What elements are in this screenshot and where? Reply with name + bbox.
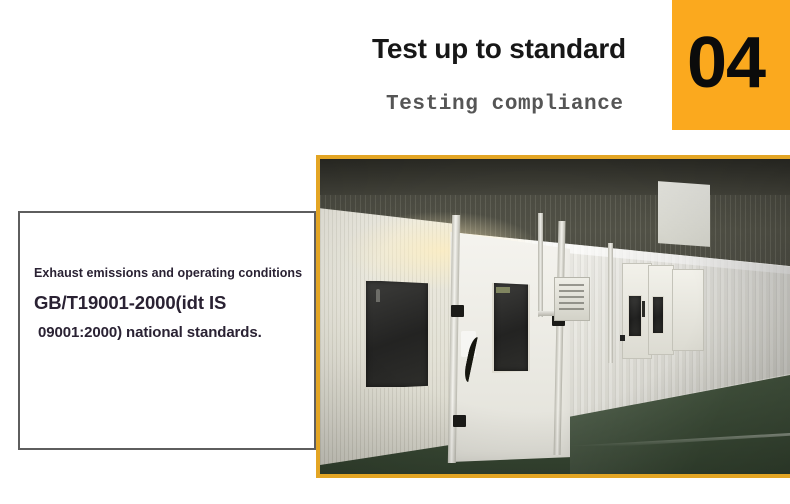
- section-number-label: 04: [672, 0, 780, 130]
- page-subtitle: Testing compliance: [386, 93, 676, 116]
- page-title: Test up to standard: [372, 33, 662, 65]
- info-card: Exhaust emissions and operating conditio…: [18, 211, 316, 450]
- info-card-body: Exhaust emissions and operating conditio…: [34, 266, 308, 341]
- section-number-badge: 04: [672, 0, 790, 130]
- info-card-line-1: Exhaust emissions and operating conditio…: [34, 266, 308, 280]
- info-card-line-3: 09001:2000) national standards.: [38, 324, 308, 341]
- product-photo-panel: [316, 155, 790, 478]
- product-photo: [320, 159, 790, 474]
- header: Test up to standard Testing compliance 0…: [0, 0, 790, 150]
- info-card-line-2: GB/T19001-2000(idt IS: [34, 292, 308, 314]
- photo-vignette: [320, 159, 790, 474]
